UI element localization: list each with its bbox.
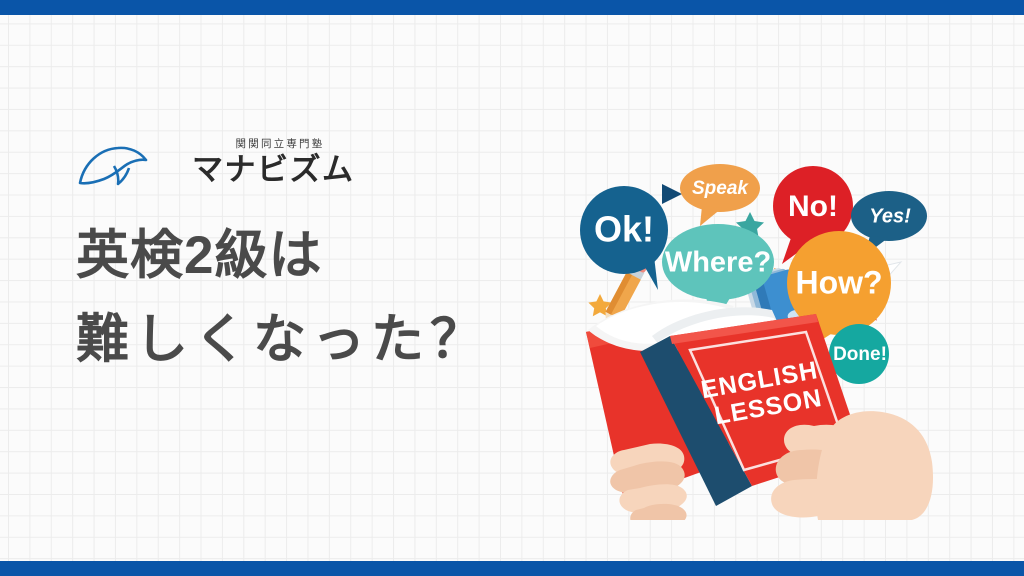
bottom-brand-bar: [0, 561, 1024, 576]
bubble-how-label: How?: [795, 264, 882, 300]
brand-subtitle: 関関同立専門塾: [196, 133, 364, 151]
bubble-where-label: Where?: [665, 247, 771, 279]
bubble-no-label: No!: [788, 190, 838, 223]
english-lesson-illustration: Speak No! Yes! Ok!: [566, 150, 966, 520]
page-title-line-2: 難しくなった？: [76, 298, 546, 382]
page-title-line-1: 英検2級は: [76, 214, 546, 298]
bubble-ok: Ok!: [580, 186, 668, 290]
page-title: 英検2級は 難しくなった？: [76, 214, 546, 382]
bubble-ok-label: Ok!: [594, 209, 654, 250]
brand-name: マナビズム: [192, 151, 376, 189]
hand-left-icon: [610, 444, 687, 521]
bubble-done-label: Done!: [833, 344, 887, 365]
bubble-speak-label: Speak: [692, 178, 749, 199]
top-brand-bar: [0, 0, 1024, 15]
brand-logo-text: 関関同立専門塾 マナビズム: [166, 133, 376, 189]
dolphin-icon: [74, 139, 158, 189]
hand-right-icon: [771, 411, 933, 520]
triangle-navy-icon: [662, 184, 682, 204]
slide-canvas: 関関同立専門塾 マナビズム 英検2級は 難しくなった？: [0, 0, 1024, 576]
brand-logo[interactable]: 関関同立専門塾 マナビズム: [74, 133, 374, 195]
bubble-yes-label: Yes!: [869, 205, 911, 227]
